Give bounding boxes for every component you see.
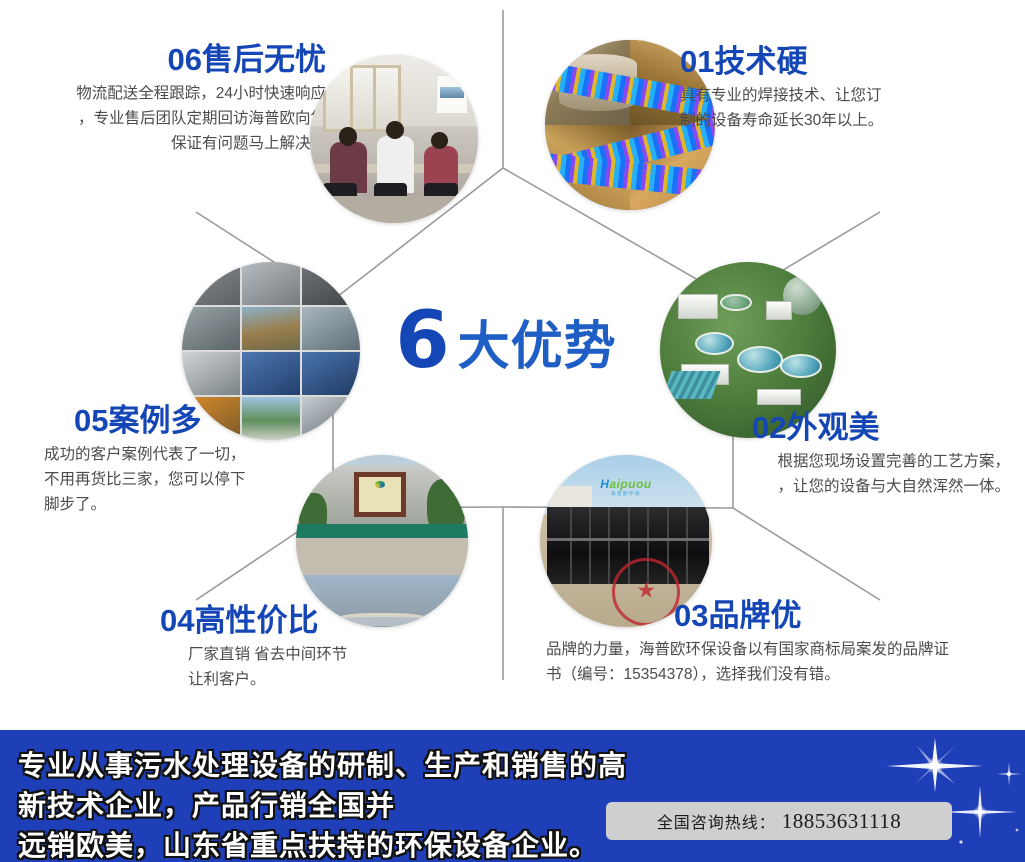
haipuou-logo: Haipuou 海普欧环保 bbox=[600, 477, 652, 497]
building-shape bbox=[678, 294, 719, 319]
hotline-number: 18853631118 bbox=[782, 809, 901, 834]
case-thumb bbox=[242, 352, 300, 395]
case-thumb bbox=[182, 262, 240, 305]
building-shape bbox=[766, 301, 793, 321]
feature-01-title: 01技术硬 bbox=[680, 46, 1010, 79]
head-shape bbox=[386, 121, 404, 139]
feature-03-desc: 品牌的力量，海普欧环保设备以有国家商标局案发的品牌证 书（编号：15354378… bbox=[546, 637, 1016, 687]
feature-02: 02外观美 根据您现场设置完善的工艺方案， ，让您的设备与大自然浑然一体。 bbox=[690, 412, 1010, 499]
logo-initial: H bbox=[600, 477, 609, 491]
tank-highlight-shape bbox=[547, 538, 709, 541]
center-number: 6 bbox=[395, 302, 447, 380]
case-thumb bbox=[302, 262, 360, 305]
case-thumb bbox=[182, 307, 240, 350]
logo-text: aipuou bbox=[609, 477, 651, 491]
bottom-banner: 专业从事污水处理设备的研制、生产和销售的高新技术企业，产品行销全国并 远销欧美，… bbox=[0, 730, 1025, 862]
sparkle-decoration bbox=[765, 730, 1025, 862]
case-thumb bbox=[302, 307, 360, 350]
clarifier-shape bbox=[780, 354, 822, 379]
floor-shape bbox=[310, 196, 478, 223]
tank-shape bbox=[720, 294, 752, 312]
head-shape bbox=[431, 132, 448, 149]
case-thumb bbox=[242, 307, 300, 350]
head-shape bbox=[339, 127, 357, 145]
feature-06-desc: 物流配送全程跟踪，24小时快速响应 ，专业售后团队定期回访海普欧向您 保证有问题… bbox=[16, 81, 326, 156]
feature-03: 03品牌优 品牌的力量，海普欧环保设备以有国家商标局案发的品牌证 书（编号：15… bbox=[546, 600, 1016, 687]
feature-06: 06售后无忧 物流配送全程跟踪，24小时快速响应 ，专业售后团队定期回访海普欧向… bbox=[16, 44, 326, 156]
road-shape bbox=[296, 538, 468, 576]
feature-05-title: 05案例多 bbox=[74, 405, 344, 438]
center-word: 大优势 bbox=[458, 304, 617, 379]
banner-text: 专业从事污水处理设备的研制、生产和销售的高新技术企业，产品行销全国并 远销欧美，… bbox=[18, 746, 638, 862]
case-thumb bbox=[302, 352, 360, 395]
feature-04: 04高性价比 厂家直销 省去中间环节 让利客户。 bbox=[160, 605, 480, 692]
feature-06-title: 06售后无忧 bbox=[16, 44, 326, 77]
clarifier-shape bbox=[737, 346, 783, 372]
aeration-basin-shape bbox=[662, 371, 720, 399]
feature-01: 01技术硬 具有专业的焊接技术、让您订 制的设备寿命延长30年以上。 bbox=[680, 46, 1010, 133]
building-shape bbox=[757, 389, 801, 405]
feature-04-desc: 厂家直销 省去中间环节 让利客户。 bbox=[188, 642, 480, 692]
feature-03-title: 03品牌优 bbox=[674, 600, 1016, 633]
company-signboard bbox=[354, 472, 406, 517]
hedge-shape bbox=[296, 524, 468, 538]
spoke-lower-right bbox=[733, 508, 880, 600]
center-label: 6 大优势 bbox=[376, 296, 636, 386]
hotline-badge[interactable]: 全国咨询热线： 18853631118 bbox=[606, 802, 952, 840]
poster-shape bbox=[436, 75, 468, 114]
case-thumb bbox=[182, 352, 240, 395]
feature-02-desc: 根据您现场设置完善的工艺方案， ，让您的设备与大自然浑然一体。 bbox=[690, 449, 1010, 499]
hotline-label: 全国咨询热线： bbox=[657, 809, 776, 833]
case-thumb bbox=[242, 262, 300, 305]
clarifier-shape bbox=[695, 332, 734, 355]
feature-04-photo bbox=[296, 455, 468, 627]
feature-04-title: 04高性价比 bbox=[160, 605, 480, 638]
infographic-root: 06售后无忧 物流配送全程跟踪，24小时快速响应 ，专业售后团队定期回访海普欧向… bbox=[0, 0, 1025, 862]
feature-01-desc: 具有专业的焊接技术、让您订 制的设备寿命延长30年以上。 bbox=[680, 83, 1010, 133]
logo-subtitle: 海普欧环保 bbox=[600, 491, 652, 497]
feature-02-title: 02外观美 bbox=[752, 412, 1010, 445]
feature-06-photo bbox=[310, 55, 478, 223]
